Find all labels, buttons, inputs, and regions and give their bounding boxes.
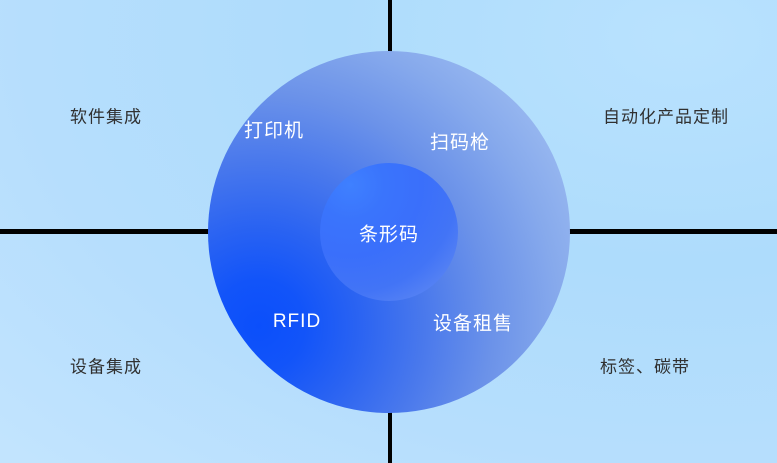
outer-label-top-left: 软件集成 [70,103,142,128]
segment-label-equipment-rental: 设备租售 [433,309,513,336]
outer-label-bottom-right: 标签、碳带 [600,353,690,378]
outer-label-bottom-left: 设备集成 [70,353,142,378]
segment-label-scanner: 扫码枪 [430,128,490,155]
segment-label-rfid: RFID [273,311,321,333]
center-label-barcode: 条形码 [359,220,419,247]
segment-label-printer: 打印机 [244,116,304,143]
diagram-canvas: 软件集成 自动化产品定制 设备集成 标签、碳带 打印机 扫码枪 RFID 设备租… [0,0,777,463]
outer-label-top-right: 自动化产品定制 [603,103,729,128]
